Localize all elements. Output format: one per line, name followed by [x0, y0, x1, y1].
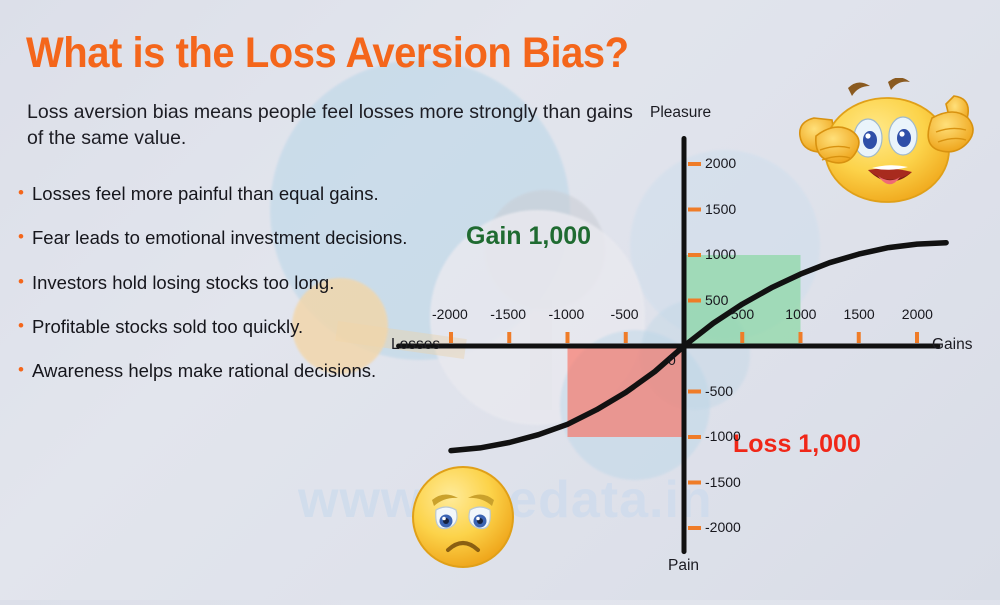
sad-smiley-icon	[408, 462, 518, 577]
thumbs-up-smiley-icon	[790, 78, 985, 233]
axis-label-pain: Pain	[668, 557, 699, 575]
origin-label: 0	[668, 352, 676, 368]
y-tick-label: -1000	[705, 428, 741, 444]
y-tick-label: 2000	[705, 155, 736, 171]
x-tick-label: 1000	[785, 306, 816, 322]
y-tick-label: 500	[705, 292, 728, 308]
y-tick-label: 1500	[705, 201, 736, 217]
x-tick-label: 1500	[844, 306, 875, 322]
axis-label-losses: Losses	[391, 336, 440, 354]
gain-annotation: Gain 1,000	[466, 222, 591, 251]
axis-label-pleasure: Pleasure	[650, 104, 711, 122]
x-tick-label: -500	[611, 306, 639, 322]
x-tick-label: -1500	[490, 306, 526, 322]
y-tick-label: 1000	[705, 246, 736, 262]
y-tick-label: -2000	[705, 519, 741, 535]
loss-annotation: Loss 1,000	[733, 430, 861, 459]
axis-label-gains: Gains	[932, 336, 973, 354]
y-tick-label: -1500	[705, 474, 741, 490]
x-tick-label: -1000	[549, 306, 585, 322]
value-function-chart: Pleasure Pain Gains Losses 0 Gain 1,000 …	[0, 0, 1000, 600]
x-tick-label: 500	[731, 306, 754, 322]
y-tick-label: -500	[705, 383, 733, 399]
x-tick-label: 2000	[902, 306, 933, 322]
x-tick-label: -2000	[432, 306, 468, 322]
